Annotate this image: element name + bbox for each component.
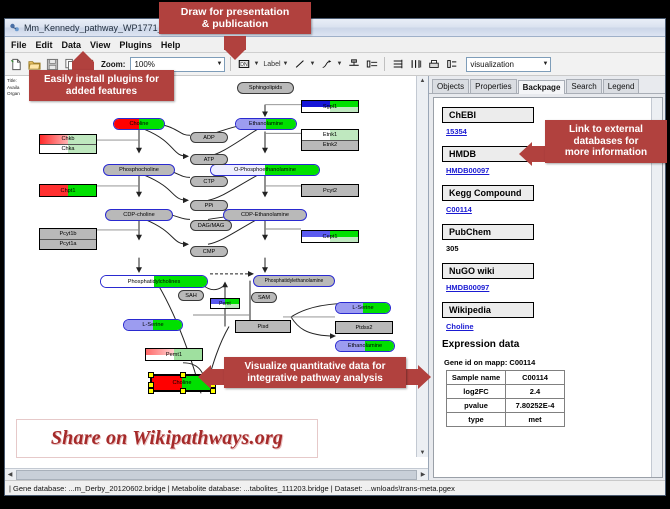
callout-draw-line1: Draw for presentation [181,6,290,18]
align-tool-icon[interactable] [346,57,361,72]
expression-data-title: Expression data [442,339,645,350]
table-cell-key: Sample name [447,371,506,385]
metabolite-atp[interactable]: ATP [190,154,228,165]
menu-file[interactable]: File [10,40,28,50]
menu-bar: File Edit Data View Plugins Help [5,37,665,53]
callout-visualize-arrow-left [198,365,211,389]
node-label: CTP [203,179,214,185]
metabolite-ethanolamine-right[interactable]: Ethanolamine [335,340,395,352]
gene-chkb-chka[interactable]: Chkb Chka [39,134,97,154]
gene-label: Pemt [219,301,231,307]
node-label: Choline [130,121,149,127]
metabolite-phosphatidylethanolamine[interactable]: Phosphatidylethanolamine [253,275,335,287]
node-label: ADP [203,135,215,141]
metabolite-cdp-ethanolamine[interactable]: CDP-Ethanolamine [223,209,307,221]
gene-label: Pemt1 [166,352,182,358]
metabolite-l-serine-right[interactable]: L-Serine [335,302,391,314]
node-label: CDP-Ethanolamine [241,212,289,218]
backpage-link-kegg[interactable]: C00114 [446,205,645,214]
table-cell-value: C00114 [506,371,565,385]
node-label: Choline [173,380,192,386]
chevron-down-icon: ▼ [216,61,222,67]
callout-draw-arrow [224,49,246,60]
visualization-value: visualization [470,60,514,69]
metabolite-o-phosphoethanolamine[interactable]: O-Phosphoethanolamine [210,164,320,176]
menu-edit[interactable]: Edit [35,40,54,50]
metabolite-ethanolamine-top[interactable]: Ethanolamine [235,118,297,130]
table-row: log2FC 2.4 [447,385,565,399]
tab-properties[interactable]: Properties [470,79,516,93]
gene-label: Chpt1 [61,188,76,194]
gene-row-sgpl1[interactable]: Sgpl1 [302,101,358,112]
node-label: DAG/MAG [198,223,224,229]
new-document-icon[interactable] [9,57,24,72]
gene-label: Etnk2 [323,142,337,148]
callout-draw-line2: & publication [202,18,269,30]
menu-view[interactable]: View [89,40,111,50]
menu-data[interactable]: Data [61,40,83,50]
scroll-right-icon[interactable]: ▶ [418,470,428,479]
metabolite-cmp[interactable]: CMP [190,246,228,257]
gene-pisd[interactable]: Pisd [235,320,291,333]
backpage-link-hmdb[interactable]: HMDB00097 [446,166,645,175]
gene-row-pemt[interactable]: Pemt [211,299,239,308]
side-panel-tabs: Objects Properties Backpage Search Legen… [429,76,665,94]
tab-legend[interactable]: Legend [603,79,640,93]
scroll-up-icon[interactable]: ▲ [418,76,428,85]
pathway-canvas-scroll[interactable]: Title: Availa Organ [5,76,428,468]
backpage-link-wikipedia[interactable]: Choline [446,322,645,331]
node-label: O-Phosphoethanolamine [234,167,296,173]
interaction-tool-icon[interactable] [319,57,334,72]
scroll-thumb[interactable] [16,470,417,480]
callout-draw: Draw for presentation & publication [159,2,311,34]
callout-links-line3: more information [565,147,647,158]
table-cell-value: 2.4 [506,385,565,399]
callout-draw-stem [224,36,246,50]
layout-tool-icon[interactable] [444,57,459,72]
callout-share-text: Share on Wikipathways.org [51,427,283,450]
gene-row-cept1[interactable]: Cept1 [302,231,358,242]
expression-data-table: Sample name C00114 log2FC 2.4 pvalue 7.8… [446,370,565,427]
node-label: L-Serine [142,322,163,328]
callout-links-line1: Link to external [569,124,643,135]
selection-handle[interactable] [180,372,186,378]
metabolite-cdp-choline[interactable]: CDP-choline [105,209,173,221]
node-label: Sphingolipids [249,85,282,91]
callout-visualize-line2: integrative pathway analysis [247,373,383,384]
svg-text:DN: DN [240,62,248,68]
callout-visualize: Visualize quantitative data for integrat… [224,357,406,388]
gene-label: Pcyt1b [59,231,76,237]
node-label: SAH [185,293,197,299]
gene-etnk1-etnk2[interactable]: Etnk1 Etnk2 [301,129,359,151]
metabolite-l-serine-left[interactable]: L-Serine [123,319,183,331]
node-label: ATP [204,157,214,163]
callout-plugins-line1: Easily install plugins for [44,74,159,85]
status-bar: | Gene database: ...m_Derby_20120602.bri… [5,480,665,495]
group-tool-icon[interactable] [364,57,379,72]
gene-sgpl1[interactable]: Sgpl1 [301,100,359,113]
gene-label: Ptdss2 [355,325,372,331]
gene-pcyt1b-pcyt1a[interactable]: Pcyt1b Pcyt1a [39,228,97,250]
table-row: type met [447,413,565,427]
table-cell-value: 7.80252E-4 [506,399,565,413]
backpage-heading-kegg: Kegg Compound [442,185,534,201]
gene-label: Pisd [258,324,269,330]
node-label: L-Serine [352,305,373,311]
callout-visualize-arrow-right [418,365,431,389]
backpage-heading-wikipedia: Wikipedia [442,302,534,318]
status-text: | Gene database: ...m_Derby_20120602.bri… [9,484,455,493]
node-label: Ethanolamine [249,121,283,127]
app-icon [9,22,20,33]
label-dropdown-icon[interactable]: ▼ [283,61,289,67]
gene-chpt1[interactable]: Chpt1 [39,184,97,197]
datanode-dropdown-icon[interactable]: ▼ [253,61,259,67]
tab-objects[interactable]: Objects [432,79,469,93]
backpage-heading-pubchem: PubChem [442,224,534,240]
label-tool-label[interactable]: Label [263,61,280,68]
callout-visualize-line1: Visualize quantitative data for [245,361,386,372]
gene-id-on-mapp: Gene id on mapp: C00114 [444,358,645,367]
table-cell-value: met [506,413,565,427]
callout-share: Share on Wikipathways.org [16,419,318,458]
node-label: PPi [205,203,214,209]
toolbar-separator-2 [384,57,385,71]
menu-plugins[interactable]: Plugins [118,40,153,50]
callout-links-arrow [519,142,532,166]
gene-row-chkb[interactable]: Chkb [40,135,96,145]
scroll-left-icon[interactable]: ◀ [5,470,15,479]
metabolite-phosphocholine[interactable]: Phosphocholine [103,164,175,176]
gene-row-pcyt1b[interactable]: Pcyt1b [40,229,96,240]
backpage-value-pubchem: 305 [446,244,645,253]
gene-pemt1[interactable]: Pemt1 [145,348,203,361]
table-cell-key: type [447,413,506,427]
gene-label: Pcyt1a [59,241,76,247]
node-label: Phosphocholine [119,167,159,173]
selection-handle[interactable] [148,388,154,394]
gene-pcyt2[interactable]: Pcyt2 [301,184,359,197]
callout-links-line2: databases for [573,136,638,147]
callout-plugins: Easily install plugins for added feature… [29,70,174,101]
visualization-combo[interactable]: visualization ▼ [466,57,551,72]
metabolite-sphingolipids[interactable]: Sphingolipids [237,82,294,94]
metabolite-sah[interactable]: SAH [178,290,204,301]
interaction-dropdown-icon[interactable]: ▼ [336,61,342,67]
gene-row-pcyt1a[interactable]: Pcyt1a [40,240,96,250]
callout-plugins-line2: added features [66,86,137,97]
table-cell-key: pvalue [447,399,506,413]
gene-row-etnk1[interactable]: Etnk1 [302,130,358,141]
line-tool-icon[interactable] [292,57,307,72]
selection-handle[interactable] [180,388,186,394]
backpage-link-nugo[interactable]: HMDB00097 [446,283,645,292]
stack-tool-icon[interactable] [390,57,405,72]
gene-row-chka[interactable]: Chka [40,145,96,154]
pathway-canvas[interactable]: Title: Availa Organ [5,76,428,468]
gene-cept1[interactable]: Cept1 [301,230,359,243]
metabolite-sam[interactable]: SAM [251,292,277,303]
canvas-vertical-scrollbar[interactable]: ▲ ▼ [416,76,428,457]
menu-help[interactable]: Help [160,40,182,50]
selection-handle[interactable] [148,372,154,378]
metabolite-dagmag[interactable]: DAG/MAG [190,220,232,231]
backpage-heading-chebi: ChEBI [442,107,534,123]
gene-row-pcyt2[interactable]: Pcyt2 [302,185,358,196]
gene-row-chpt1[interactable]: Chpt1 [40,185,96,196]
tab-backpage[interactable]: Backpage [518,80,566,94]
gene-label: Chka [61,146,74,152]
backpage-heading-nugo: NuGO wiki [442,263,534,279]
canvas-horizontal-scrollbar[interactable]: ◀ ▶ [5,468,428,480]
gene-row-etnk2[interactable]: Etnk2 [302,141,358,151]
metabolite-ppi[interactable]: PPi [190,200,228,211]
metabolite-ctp[interactable]: CTP [190,176,228,187]
line-dropdown-icon[interactable]: ▼ [309,61,315,67]
gene-label: Pcyt2 [323,188,337,194]
table-cell-key: log2FC [447,385,506,399]
gene-pemt-small[interactable]: Pemt [210,298,240,309]
chevron-down-icon-2: ▼ [542,61,548,67]
node-label: CMP [203,249,215,255]
gene-label: Etnk1 [323,132,337,138]
gene-row-ptdss2[interactable]: Ptdss2 [336,322,392,333]
scroll-down-icon[interactable]: ▼ [418,448,428,457]
callout-plugins-arrow [72,51,94,62]
table-row: pvalue 7.80252E-4 [447,399,565,413]
order-tool-icon[interactable] [426,57,441,72]
gene-row-pisd[interactable]: Pisd [236,321,290,332]
callout-links-stem [532,146,546,162]
gene-ptdss2[interactable]: Ptdss2 [335,321,393,334]
zoom-label: Zoom: [101,60,125,69]
gene-label: Sgpl1 [323,104,337,110]
callout-visualize-stem-left [211,369,225,385]
table-row: Sample name C00114 [447,371,565,385]
gene-row-pemt1[interactable]: Pemt1 [146,349,202,360]
distribute-tool-icon[interactable] [408,57,423,72]
tab-search[interactable]: Search [566,79,601,93]
metabolite-adp[interactable]: ADP [190,132,228,143]
gene-label: Cept1 [323,234,338,240]
metabolite-choline-top[interactable]: Choline [113,118,165,130]
callout-visualize-stem-right [405,369,419,385]
zoom-value: 100% [134,60,154,69]
callout-links: Link to external databases for more info… [545,120,667,163]
node-label: CDP-choline [123,212,154,218]
node-label: Phosphatidylethanolamine [265,278,324,284]
node-label: Ethanolamine [348,343,382,349]
gene-label: Chkb [61,136,74,142]
metabolite-phosphatidylcholines[interactable]: Phosphatidylcholines [100,275,208,288]
node-label: Phosphatidylcholines [128,279,181,285]
node-label: SAM [258,295,270,301]
title-bar: Mm_Kennedy_pathway_WP1771_45176.gpml [5,19,665,37]
